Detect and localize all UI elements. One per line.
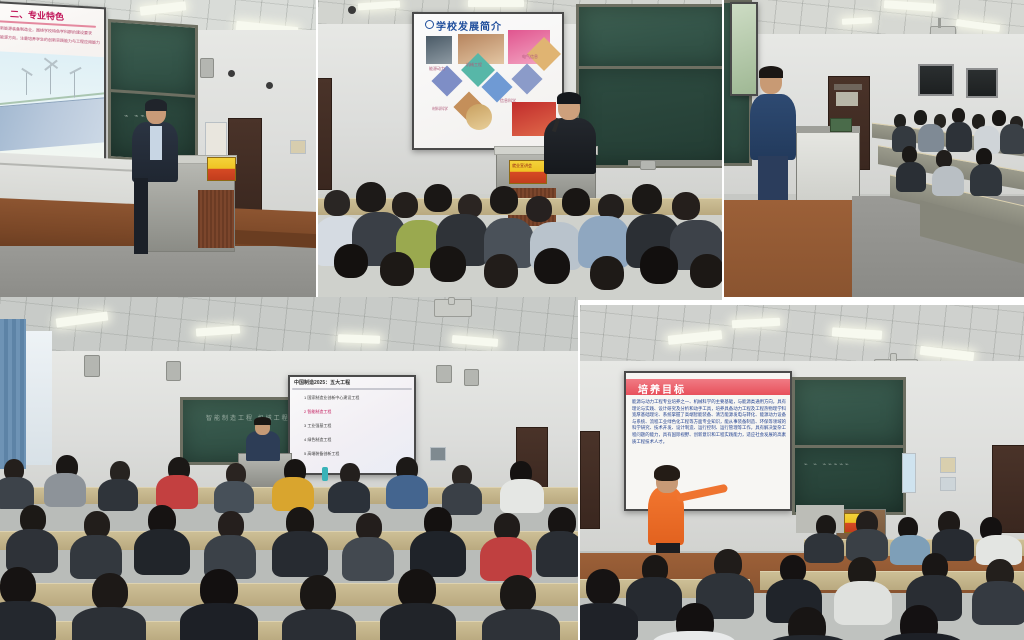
slide-rule xyxy=(292,388,412,390)
audience-head xyxy=(300,575,336,613)
audience-body xyxy=(972,581,1024,625)
audience-body xyxy=(482,609,560,640)
slide-tile-label: 电气信息 xyxy=(522,54,538,60)
wall-speaker xyxy=(436,365,452,383)
audience-body xyxy=(1000,124,1024,154)
audience-head xyxy=(0,567,36,605)
wall-panel xyxy=(205,122,227,158)
slide-item: 3 工业强基工程 xyxy=(304,423,331,429)
podium-sign xyxy=(207,157,236,181)
audience-body xyxy=(214,481,254,513)
presenter-hair xyxy=(654,465,680,481)
slide-tile xyxy=(511,63,542,94)
wall-notice xyxy=(940,477,956,491)
audience-body xyxy=(766,635,850,640)
audience-head xyxy=(586,569,620,605)
chalkboard-writing: ⌁ ⌁ ⌁⌁⌁⌁⌁ xyxy=(804,461,851,468)
wall-notice xyxy=(902,453,916,493)
audience-body xyxy=(272,477,314,511)
slide-title: 培养目标 xyxy=(638,381,686,396)
audience-head xyxy=(690,254,722,288)
audience-body xyxy=(932,166,964,196)
audience-head xyxy=(914,110,927,125)
projection-screen xyxy=(730,2,758,96)
slide-tile-label: 材料科学 xyxy=(432,106,448,112)
audience-body xyxy=(896,162,926,192)
ceiling-light xyxy=(338,334,380,343)
audience-body xyxy=(98,479,138,511)
audience-body xyxy=(834,581,892,625)
audience-body xyxy=(500,479,544,513)
audience-head xyxy=(952,108,965,123)
wall-window xyxy=(918,64,954,96)
audience-head xyxy=(334,244,368,278)
wall-speaker xyxy=(166,361,181,381)
slide-item: 2 智能制造工程 xyxy=(304,409,331,415)
slide-title: 中国制造2025：五大工程 xyxy=(294,379,350,386)
audience-body xyxy=(480,537,532,581)
podium-sign-label: 就业宣讲会 xyxy=(512,163,532,168)
audience-head xyxy=(992,110,1006,126)
audience-head xyxy=(526,196,552,222)
audience-head xyxy=(392,192,418,218)
audience-head xyxy=(484,254,518,288)
audience-head xyxy=(672,192,700,220)
audience-head xyxy=(902,146,917,163)
wall-speaker xyxy=(464,369,479,386)
audience-body xyxy=(946,122,972,152)
audience-head xyxy=(534,248,570,284)
photo-bottom-right[interactable]: 培养目标 能源与动力工程专业培养之一、机械科学的主要基础，与能源类通用方向，具有… xyxy=(580,305,1024,640)
audience-body xyxy=(44,473,86,507)
slide-tile-label: 机械工程 xyxy=(466,62,482,68)
audience-head xyxy=(500,575,536,613)
audience-body xyxy=(180,603,258,640)
audience-head xyxy=(430,246,466,282)
green-chalkboard xyxy=(576,4,722,72)
lectern-panel xyxy=(198,190,234,248)
audience-body xyxy=(652,631,736,640)
photo-top-right[interactable] xyxy=(724,0,1024,297)
audience-body xyxy=(282,609,356,640)
audience-head xyxy=(490,186,518,214)
projector-arm xyxy=(448,297,455,305)
audience-body xyxy=(918,124,944,152)
audience-head xyxy=(92,573,128,611)
audience-body xyxy=(970,164,1002,196)
desk-row xyxy=(0,583,578,606)
audience-body xyxy=(846,529,888,561)
slide-item: 4 绿色制造工程 xyxy=(304,437,331,443)
slide-tile-label: 能源动力 xyxy=(429,66,445,72)
wall-speaker xyxy=(640,160,656,170)
audience-body xyxy=(156,475,198,509)
audience-head xyxy=(424,184,452,212)
photo-top-middle[interactable]: 学校发展简介 能源动力 机械工程 电气信息 材料科学 信息科学 xyxy=(318,0,722,300)
audience-head xyxy=(324,190,350,216)
window-curtain xyxy=(0,319,26,469)
wall-notice xyxy=(290,140,306,154)
audience-body xyxy=(134,529,190,575)
projection-screen: 学校发展简介 能源动力 机械工程 电气信息 材料科学 信息科学 xyxy=(412,12,564,150)
wall-speaker xyxy=(84,355,100,377)
slide-tile-label: 信息科学 xyxy=(500,98,516,104)
audience-body xyxy=(380,603,456,640)
presenter-body xyxy=(544,118,596,174)
audience-head xyxy=(640,246,678,284)
presenter-body xyxy=(750,94,796,160)
audience-body xyxy=(342,537,394,581)
wall-window xyxy=(966,68,998,98)
photo-top-left[interactable]: 二、专业特色 面向新能源装备制造业，围绕学校特色学科群的建设要求 与新能源方向，… xyxy=(0,0,316,297)
audience-body xyxy=(272,531,328,577)
slide-item: 1 国家制造业创新中心建设工程 xyxy=(304,395,359,401)
audience-head xyxy=(632,184,662,214)
audience-head xyxy=(562,188,590,216)
audience-body xyxy=(328,481,370,513)
window xyxy=(26,331,52,465)
wall-notice xyxy=(940,457,956,473)
audience-body xyxy=(804,533,844,563)
projection-screen: 二、专业特色 面向新能源装备制造业，围绕学校特色学科群的建设要求 与新能源方向，… xyxy=(0,1,106,164)
audience-body xyxy=(536,531,578,577)
audience-body xyxy=(386,475,428,509)
audience-head xyxy=(590,256,624,290)
audience-head xyxy=(356,182,386,212)
audience-body xyxy=(0,477,34,509)
green-chalkboard xyxy=(792,377,906,449)
security-camera xyxy=(266,82,273,89)
audience-body xyxy=(580,603,638,640)
security-camera xyxy=(228,70,235,77)
wall-speaker xyxy=(200,58,214,78)
photo-bottom-left[interactable]: 智能制造工程 机械工程学院 中国制造2025：五大工程 1 国家制造业创新中心建… xyxy=(0,297,578,640)
slide-title: 学校发展简介 xyxy=(436,18,502,33)
audience-body xyxy=(880,633,964,640)
photo-collage: 二、专业特色 面向新能源装备制造业，围绕学校特色学科群的建设要求 与新能源方向，… xyxy=(0,0,1024,640)
audience-head xyxy=(380,252,414,286)
ceiling-light xyxy=(468,0,524,7)
audience-body xyxy=(0,601,56,640)
slide-bullet-icon xyxy=(425,20,434,29)
audience-body xyxy=(72,607,146,640)
security-camera xyxy=(348,6,356,14)
floor xyxy=(0,246,316,297)
